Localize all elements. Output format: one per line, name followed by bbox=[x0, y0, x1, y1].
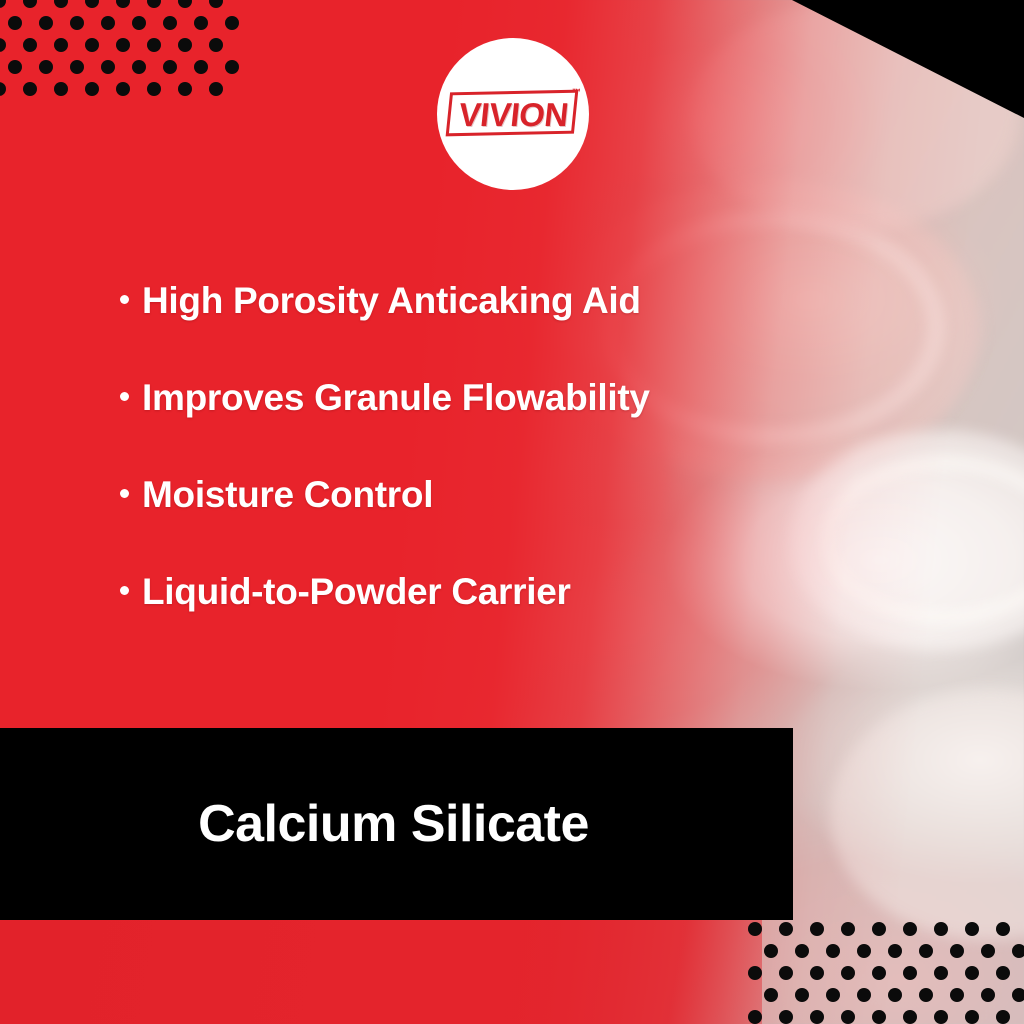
feature-label: Moisture Control bbox=[142, 476, 433, 513]
vivion-logo-mark: VIVION ™ bbox=[447, 83, 579, 145]
feature-label: High Porosity Anticaking Aid bbox=[142, 282, 641, 319]
vivion-logo-badge: VIVION ™ bbox=[437, 38, 589, 190]
trademark-symbol: ™ bbox=[572, 87, 581, 97]
bullet-point-icon bbox=[120, 586, 129, 595]
feature-bullet-item: Improves Granule Flowability bbox=[120, 379, 760, 476]
feature-bullet-item: Liquid-to-Powder Carrier bbox=[120, 573, 760, 670]
bullet-point-icon bbox=[120, 489, 129, 498]
product-title-banner: Calcium Silicate bbox=[0, 728, 793, 920]
feature-bullet-item: High Porosity Anticaking Aid bbox=[120, 282, 760, 379]
feature-label: Improves Granule Flowability bbox=[142, 379, 650, 416]
logo-wordmark: VIVION bbox=[457, 98, 569, 131]
feature-bullet-list: High Porosity Anticaking Aid Improves Gr… bbox=[120, 282, 760, 670]
product-title: Calcium Silicate bbox=[198, 798, 589, 850]
marketing-graphic-canvas: VIVION ™ High Porosity Anticaking Aid Im… bbox=[0, 0, 1024, 1024]
feature-label: Liquid-to-Powder Carrier bbox=[142, 573, 571, 610]
bullet-point-icon bbox=[120, 392, 129, 401]
feature-bullet-item: Moisture Control bbox=[120, 476, 760, 573]
bullet-point-icon bbox=[120, 295, 129, 304]
